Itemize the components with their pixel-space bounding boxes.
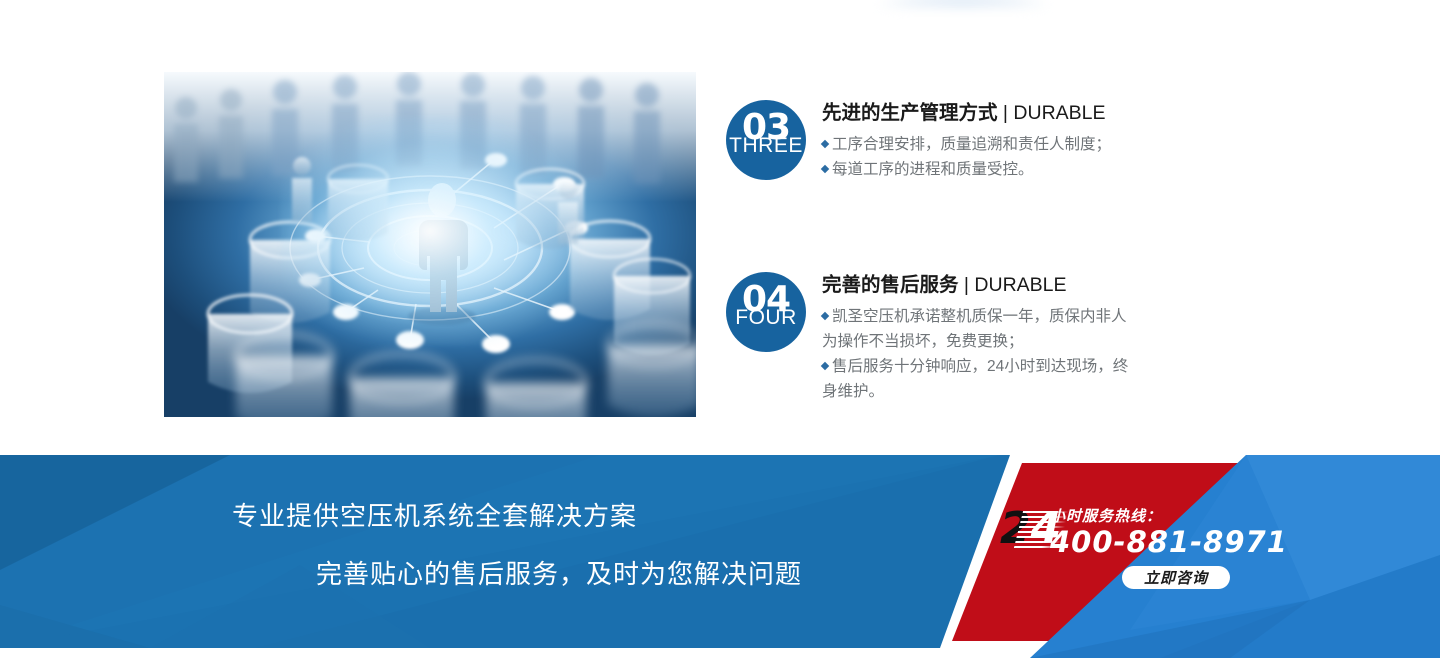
feature-bullet-line: 售后服务十分钟响应，24小时到达现场，终	[822, 354, 1128, 379]
feature-bullet-line: 每道工序的进程和质量受控。	[822, 157, 1111, 182]
banner-slogan-line-2: 完善贴心的售后服务，及时为您解决问题	[316, 554, 802, 591]
feature-bullet-line-cont: 身维护。	[822, 379, 1128, 404]
feature-badge-03: 03 THREE	[726, 100, 806, 180]
feature-item-04: 04 FOUR 完善的售后服务 | DURABLE 凯圣空压机承诺整机质保一年，…	[726, 272, 1128, 404]
feature-title-sep: |	[998, 102, 1014, 124]
hero-center-glow	[280, 116, 580, 346]
feature-text-block: 先进的生产管理方式 | DURABLE 工序合理安排，质量追溯和责任人制度； 每…	[822, 100, 1111, 182]
banner-text-layer: 专业提供空压机系统全套解决方案 完善贴心的售后服务，及时为您解决问题 24 小时…	[0, 455, 1440, 663]
feature-bullet-line: 凯圣空压机承诺整机质保一年，质保内非人	[822, 304, 1128, 329]
feature-bullet-line-cont: 为操作不当损坏，免费更换；	[822, 329, 1128, 354]
diamond-bullet-icon	[821, 312, 829, 320]
banner-slogan-line-1: 专业提供空压机系统全套解决方案	[232, 496, 637, 533]
feature-badge-04: 04 FOUR	[726, 272, 806, 352]
feature-bullet-text: 每道工序的进程和质量受控。	[832, 161, 1034, 178]
hotline-digit-2: 2	[1000, 503, 1031, 554]
diamond-bullet-icon	[821, 140, 829, 148]
feature-title-en: DURABLE	[974, 274, 1066, 296]
feature-bullet-text: 凯圣空压机承诺整机质保一年，质保内非人	[832, 308, 1127, 325]
hotline-label: 小时服务热线：	[1050, 505, 1162, 526]
diamond-bullet-icon	[821, 165, 829, 173]
hotline-phone-number: 400-881-8971	[1050, 525, 1288, 559]
consult-now-button[interactable]: 立即咨询	[1122, 566, 1230, 589]
feature-bullet-text: 工序合理安排，质量追溯和责任人制度；	[832, 136, 1111, 153]
features-section: 03 THREE 先进的生产管理方式 | DURABLE 工序合理安排，质量追溯…	[0, 0, 1440, 455]
feature-badge-word: THREE	[726, 135, 806, 156]
feature-title-cn: 先进的生产管理方式	[822, 102, 998, 124]
feature-title-cn: 完善的售后服务	[822, 274, 959, 296]
hero-image-network-people	[164, 72, 696, 417]
feature-title-sep: |	[959, 274, 975, 296]
bottom-cta-banner: 专业提供空压机系统全套解决方案 完善贴心的售后服务，及时为您解决问题 24 小时…	[0, 455, 1440, 663]
feature-bullet-text: 售后服务十分钟响应，24小时到达现场，终	[832, 358, 1128, 375]
feature-bullet-line: 工序合理安排，质量追溯和责任人制度；	[822, 132, 1111, 157]
feature-title: 先进的生产管理方式 | DURABLE	[822, 100, 1111, 126]
feature-text-block: 完善的售后服务 | DURABLE 凯圣空压机承诺整机质保一年，质保内非人 为操…	[822, 272, 1128, 404]
feature-badge-word: FOUR	[726, 307, 806, 328]
feature-item-03: 03 THREE 先进的生产管理方式 | DURABLE 工序合理安排，质量追溯…	[726, 100, 1111, 182]
feature-title: 完善的售后服务 | DURABLE	[822, 272, 1128, 298]
feature-title-en: DURABLE	[1013, 102, 1105, 124]
diamond-bullet-icon	[821, 362, 829, 370]
